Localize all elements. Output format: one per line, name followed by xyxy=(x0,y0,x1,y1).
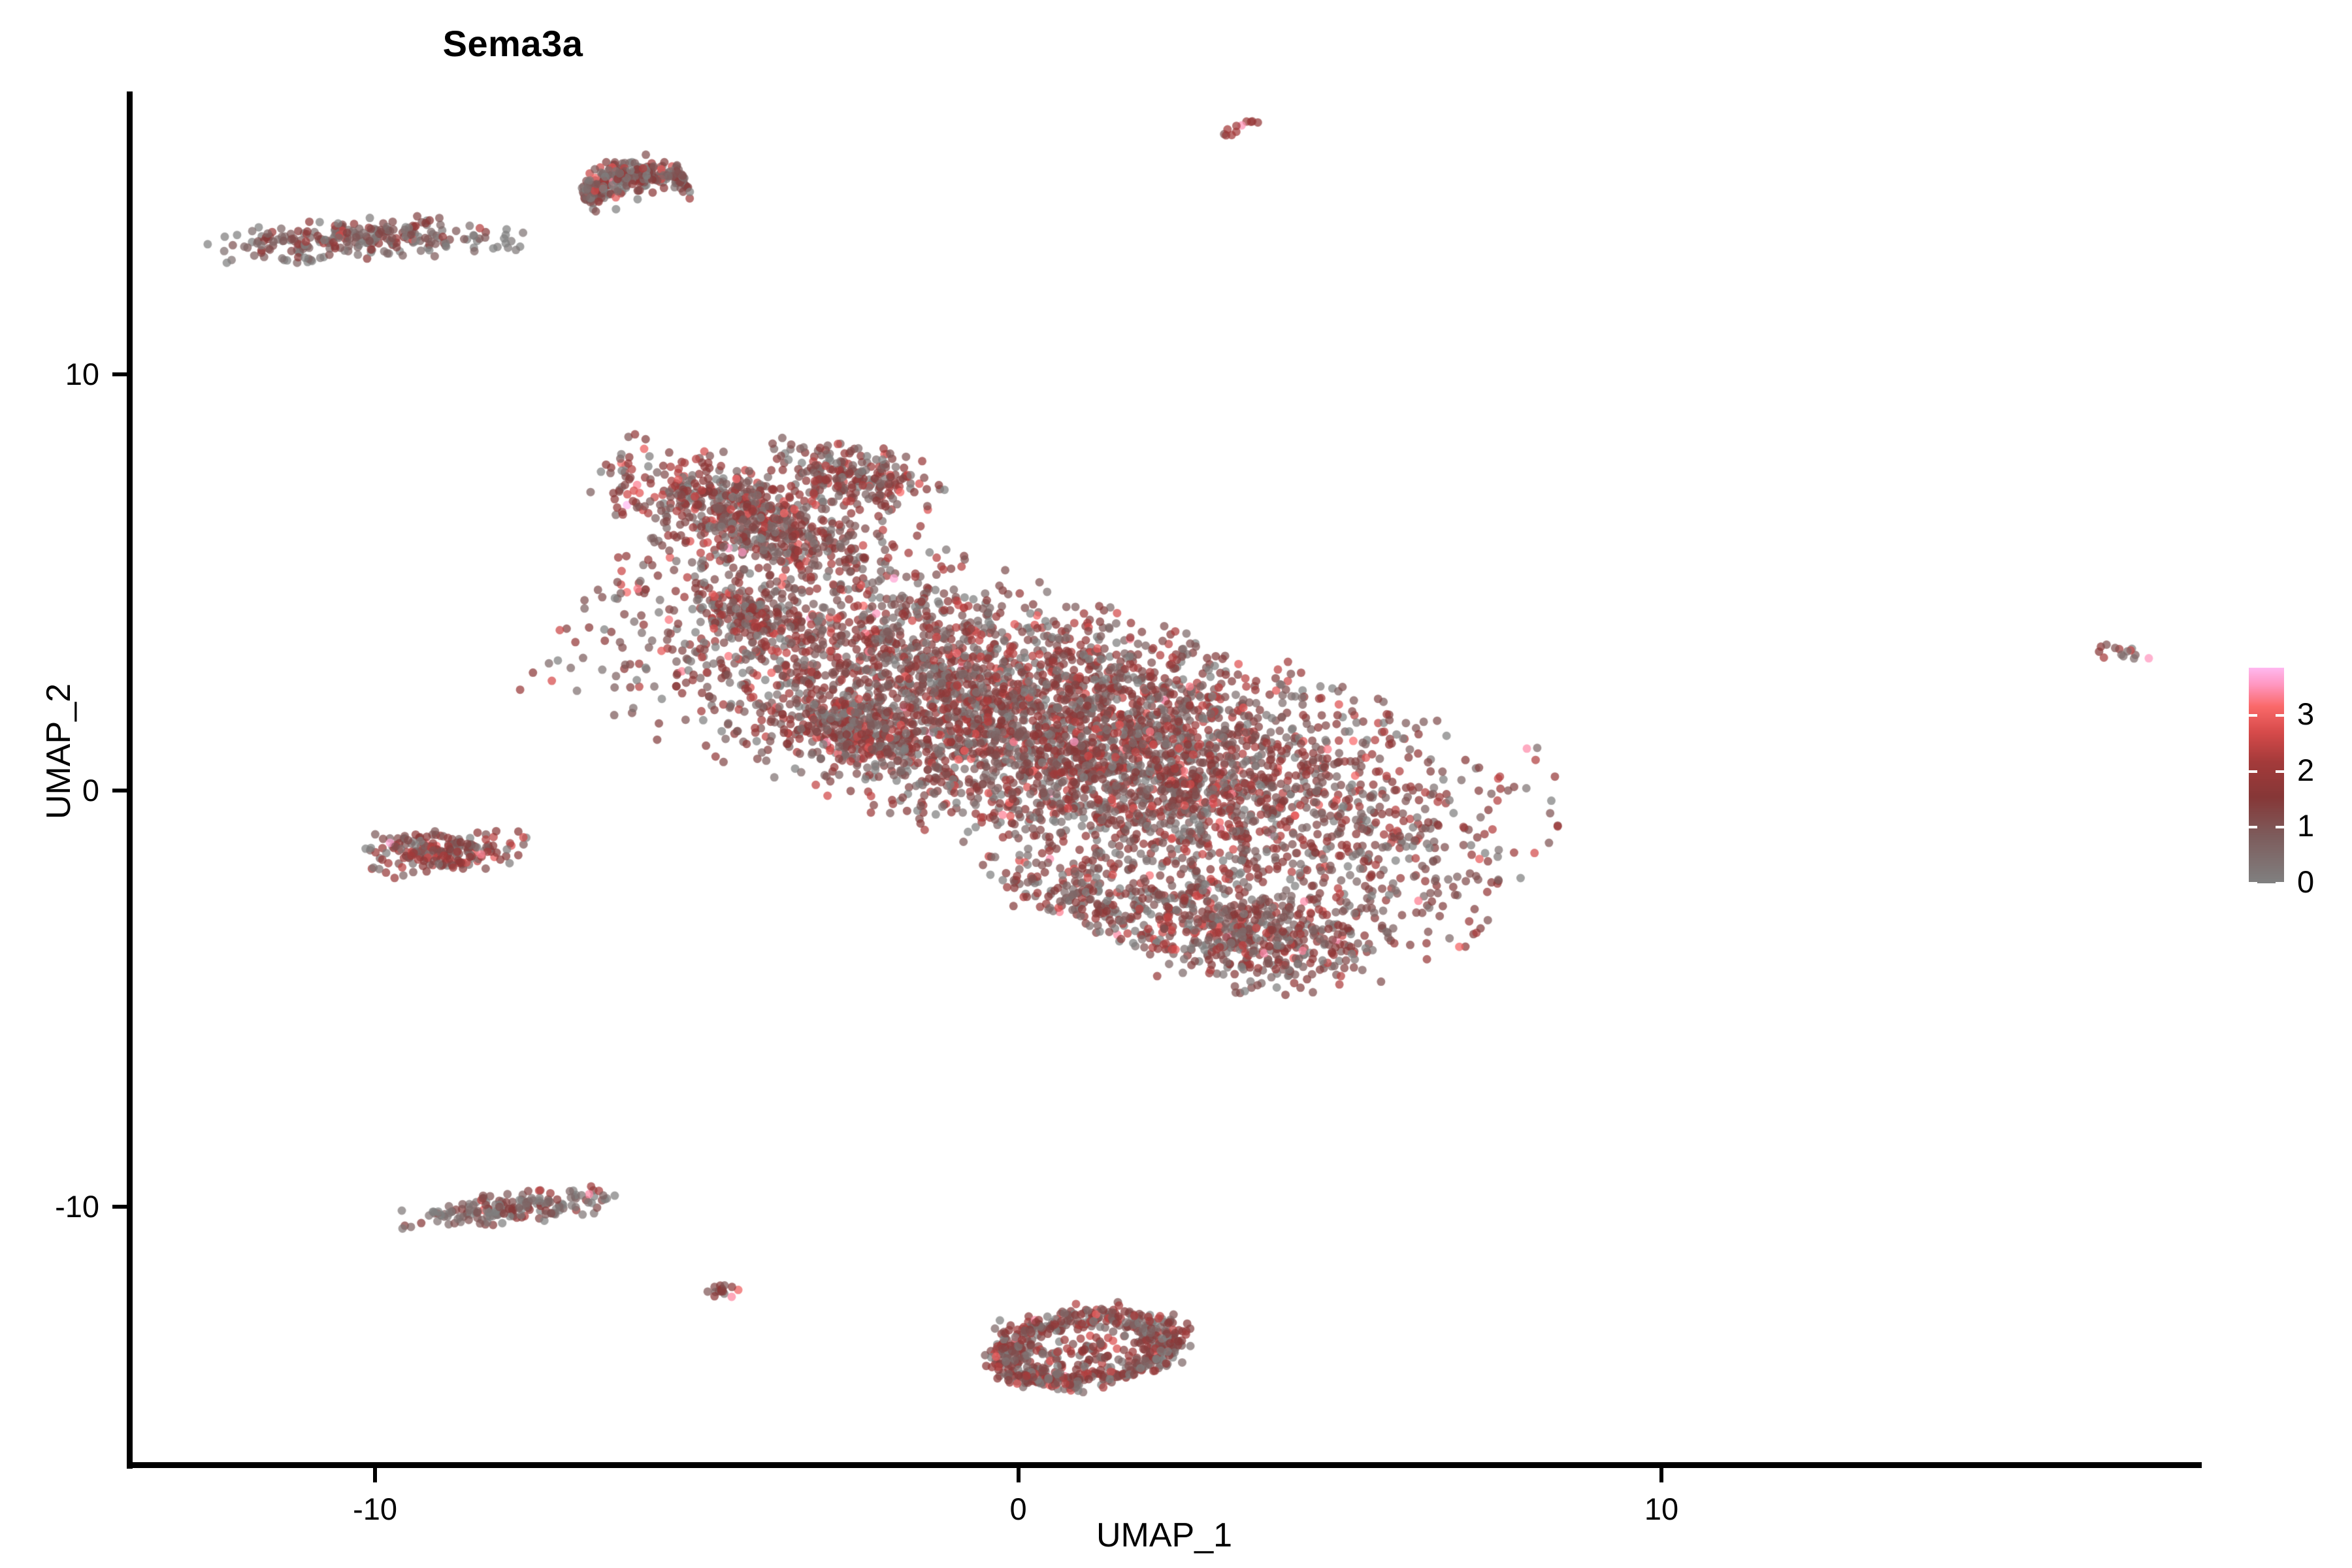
umap-feature-plot: Sema3a -10010-10010 UMAP_2 UMAP_1 0123 xyxy=(0,0,2352,1568)
scatter-plot-canvas xyxy=(131,91,2202,1465)
x-axis-line xyxy=(127,1462,2202,1468)
legend-tick-mark xyxy=(2249,882,2257,885)
legend-tick-mark xyxy=(2276,770,2284,773)
legend-label: 2 xyxy=(2297,755,2314,785)
legend-tick-mark xyxy=(2249,770,2257,773)
x-tick-mark xyxy=(373,1468,377,1482)
y-tick-label: 10 xyxy=(0,356,99,392)
y-tick-label: -10 xyxy=(0,1188,99,1224)
legend-colorbar xyxy=(2249,668,2284,883)
legend-tick-mark xyxy=(2276,714,2284,717)
page-title: Sema3a xyxy=(0,22,1689,65)
y-tick-mark xyxy=(112,789,127,792)
y-tick-mark xyxy=(112,1205,127,1209)
legend-label: 0 xyxy=(2297,866,2314,897)
x-tick-mark xyxy=(1017,1468,1021,1482)
y-tick-mark xyxy=(112,372,127,376)
x-tick-mark xyxy=(1659,1468,1663,1482)
legend-tick-mark xyxy=(2249,714,2257,717)
legend-tick-mark xyxy=(2276,826,2284,828)
legend-tick-mark xyxy=(2276,882,2284,885)
legend-label: 1 xyxy=(2297,810,2314,841)
x-axis-label: UMAP_1 xyxy=(127,1516,2202,1555)
y-axis-label: UMAP_2 xyxy=(39,523,78,980)
legend-tick-mark xyxy=(2249,826,2257,828)
plot-panel xyxy=(131,91,2202,1465)
y-axis-line xyxy=(127,91,133,1469)
color-legend: 0123 xyxy=(2249,668,2340,883)
legend-label: 3 xyxy=(2297,698,2314,729)
